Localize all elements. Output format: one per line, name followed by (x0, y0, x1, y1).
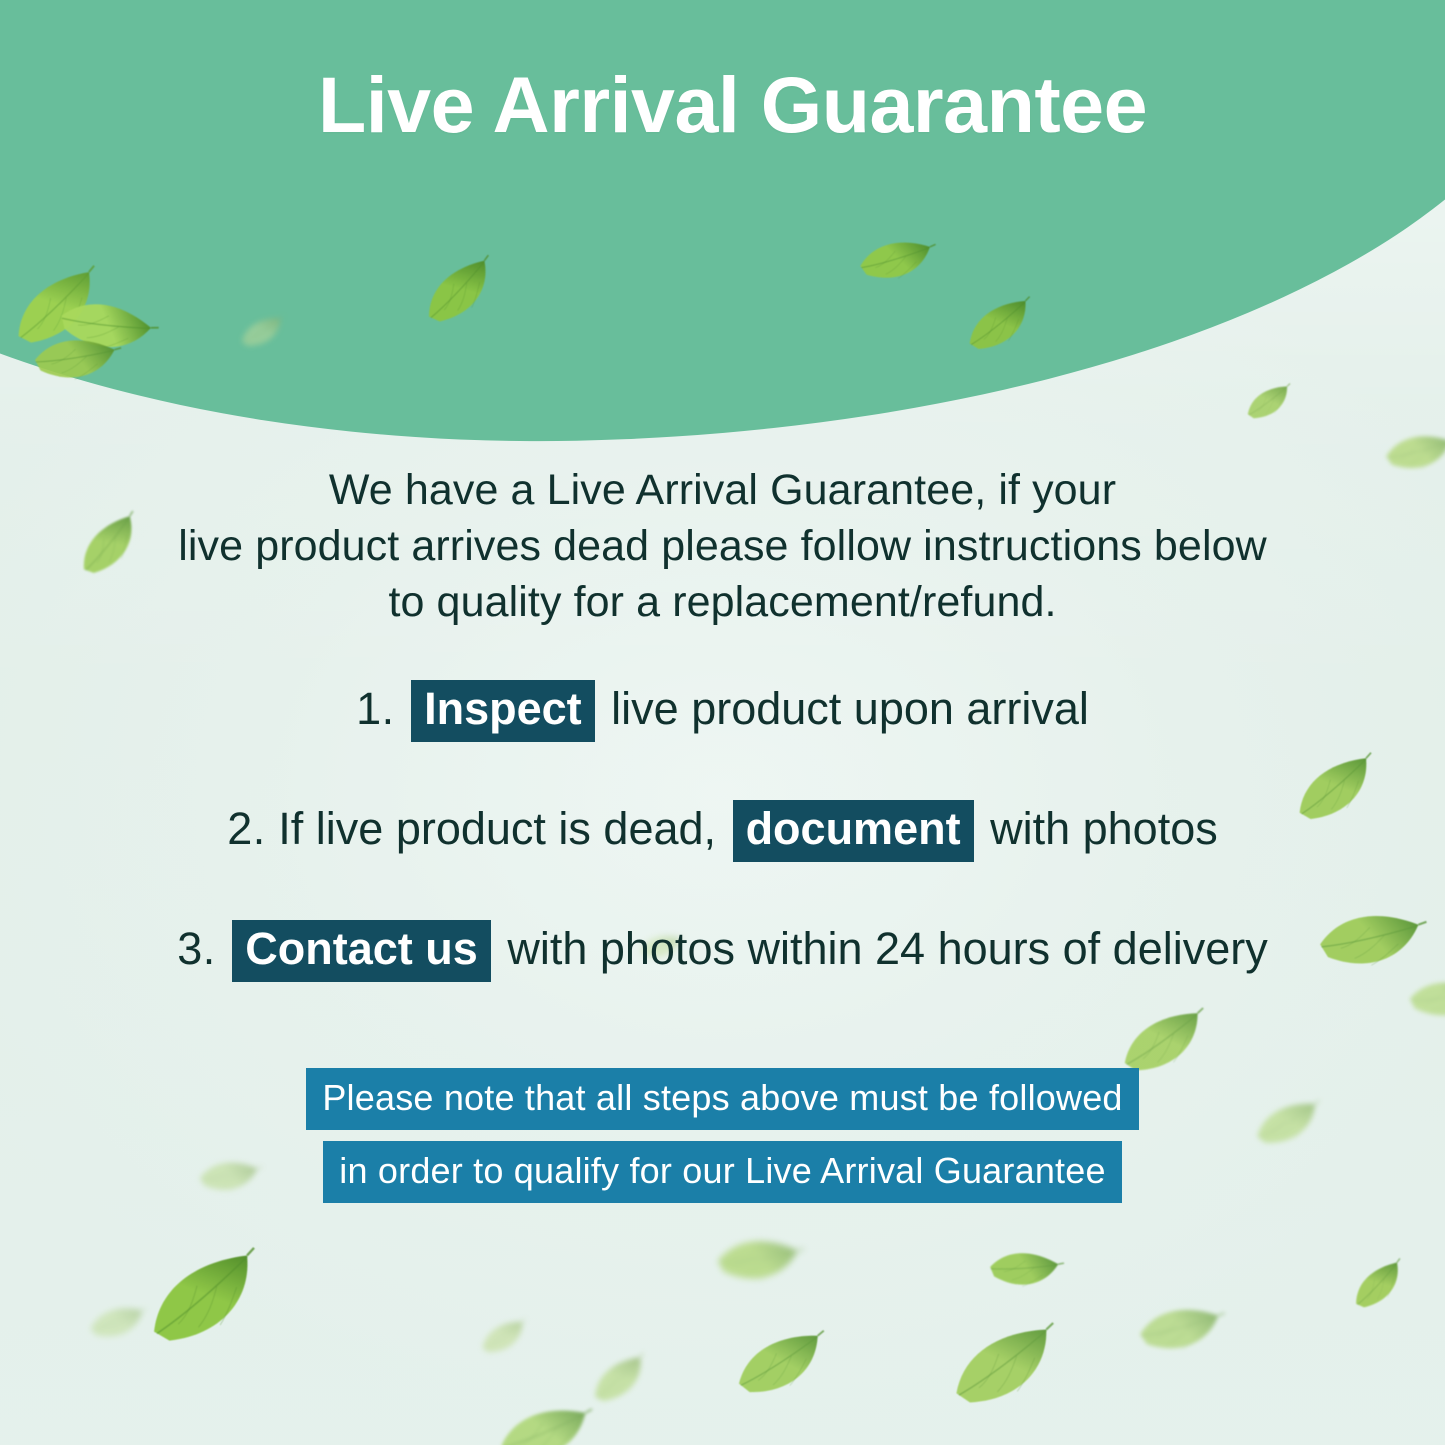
step-text: with photos (990, 803, 1218, 854)
step-number: 2. (227, 803, 266, 854)
header-green-shape-top (0, 0, 1445, 50)
intro-paragraph: We have a Live Arrival Guarantee, if you… (0, 462, 1445, 630)
live-arrival-guarantee-poster: Live Arrival Guarantee We have a Live Ar… (0, 0, 1445, 1445)
step-item: 2. If live product is dead, document wit… (0, 798, 1445, 862)
step-highlight-document: document (733, 800, 974, 862)
intro-line-2: live product arrives dead please follow … (0, 518, 1445, 574)
step-text: live product upon arrival (611, 683, 1089, 734)
step-highlight-inspect: Inspect (411, 680, 595, 742)
instruction-steps: 1. Inspect live product upon arrival 2. … (0, 678, 1445, 1038)
step-text: with photos within 24 hours of delivery (507, 923, 1267, 974)
page-title: Live Arrival Guarantee (0, 64, 1445, 147)
step-number: 1. (356, 683, 395, 734)
intro-line-3: to quality for a replacement/refund. (0, 574, 1445, 630)
step-number: 3. (177, 923, 216, 974)
note-line-1: Please note that all steps above must be… (306, 1068, 1138, 1130)
intro-line-1: We have a Live Arrival Guarantee, if you… (0, 462, 1445, 518)
step-highlight-contact-us: Contact us (232, 920, 491, 982)
note-banner: Please note that all steps above must be… (0, 1068, 1445, 1203)
note-line-2: in order to qualify for our Live Arrival… (323, 1141, 1121, 1203)
step-text-pre: If live product is dead, (278, 803, 716, 854)
step-item: 3. Contact us with photos within 24 hour… (0, 918, 1445, 982)
step-item: 1. Inspect live product upon arrival (0, 678, 1445, 742)
